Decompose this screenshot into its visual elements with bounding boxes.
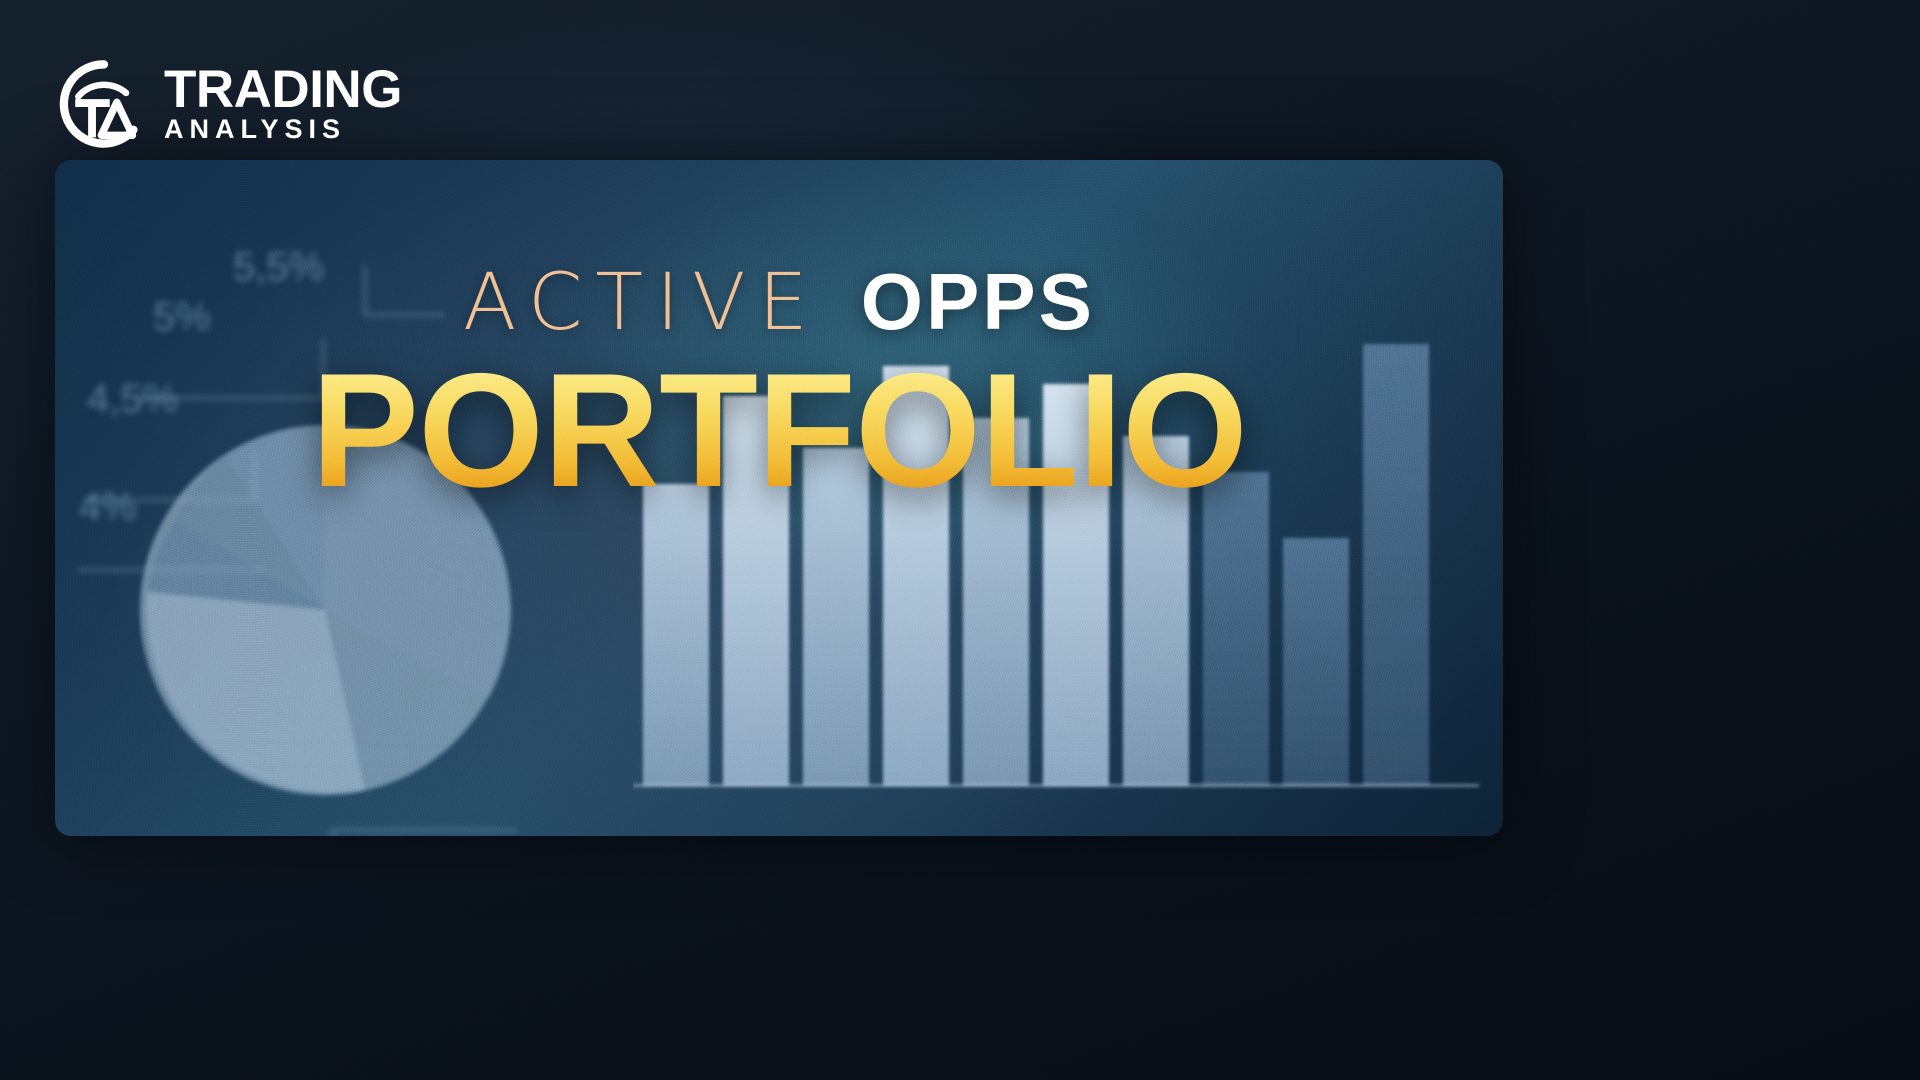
pie-label-1: 5% — [153, 295, 211, 339]
bar-8 — [1203, 472, 1269, 786]
ta-circle-monogram-icon — [58, 58, 150, 150]
bar-columns — [633, 344, 1479, 787]
bar-10 — [1363, 344, 1429, 786]
brand-name-line1: TRADING — [164, 66, 402, 115]
bar-4 — [883, 366, 949, 786]
bar-3 — [803, 448, 869, 786]
pie-label-2: 4,5% — [87, 377, 178, 421]
bar-1 — [643, 484, 709, 786]
bar-baseline — [633, 784, 1479, 787]
pie-label-4: 25% — [375, 835, 455, 836]
pie-label-0: 5,5% — [233, 245, 324, 289]
brand-name-line2: ANALYSIS — [164, 117, 402, 142]
bar-6 — [1043, 384, 1109, 786]
brand-logo: TRADING ANALYSIS — [58, 58, 402, 150]
brand-wordmark: TRADING ANALYSIS — [164, 66, 402, 142]
background-pie-chart: 5,5% 5% 4,5% 4% 25% — [65, 220, 585, 836]
hero-card: 5,5% 5% 4,5% 4% 25% — [55, 160, 1503, 836]
bar-5 — [963, 418, 1029, 786]
poster-canvas: TRADING ANALYSIS — [0, 0, 1920, 1080]
bar-9 — [1283, 538, 1349, 786]
bar-2 — [723, 396, 789, 786]
bar-7 — [1123, 436, 1189, 786]
pie-label-3: 4% — [79, 485, 137, 529]
background-bar-chart — [633, 266, 1493, 826]
